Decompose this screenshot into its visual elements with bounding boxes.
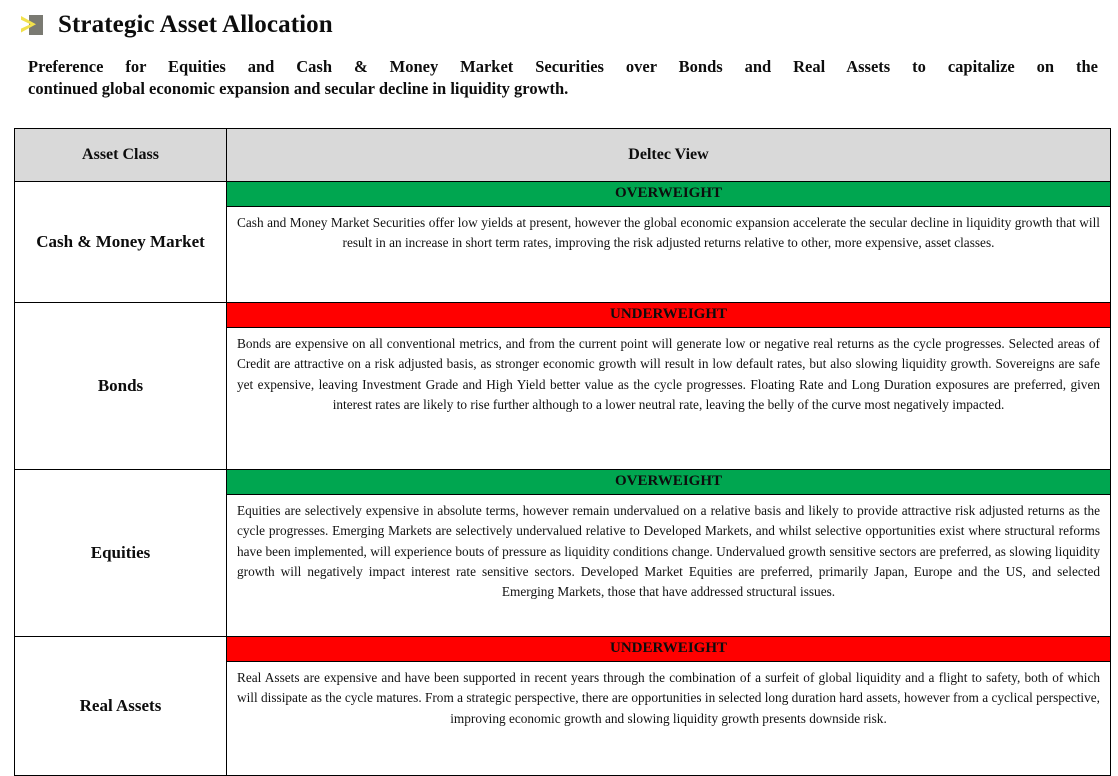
subtitle-statement: Preference for Equities and Cash & Money… [28,56,1098,100]
view-paragraph: Equities are selectively expensive in ab… [237,501,1100,602]
asset-class-cash-money-market: Cash & Money Market [15,182,227,303]
status-badge-overweight: OVERWEIGHT [227,470,1110,495]
deltec-view-equities: OVERWEIGHT Equities are selectively expe… [227,470,1111,637]
view-paragraph: Cash and Money Market Securities offer l… [237,213,1100,253]
view-paragraph: Bonds are expensive on all conventional … [237,334,1100,415]
page-title: Strategic Asset Allocation [58,12,333,37]
deltec-view-bonds: UNDERWEIGHT Bonds are expensive on all c… [227,303,1111,470]
deltec-view-real-assets: UNDERWEIGHT Real Assets are expensive an… [227,637,1111,776]
table-row: Cash & Money Market OVERWEIGHT Cash and … [15,182,1111,303]
table-header-row: Asset Class Deltec View [15,129,1111,182]
status-badge-overweight: OVERWEIGHT [227,182,1110,207]
deltec-chevron-logo-icon [20,13,46,37]
view-body-text: Bonds are expensive on all conventional … [227,328,1110,423]
table-head: Asset Class Deltec View [15,129,1111,182]
column-header-asset-class: Asset Class [15,129,227,182]
table-body: Cash & Money Market OVERWEIGHT Cash and … [15,182,1111,776]
asset-class-real-assets: Real Assets [15,637,227,776]
view-body-text: Real Assets are expensive and have been … [227,662,1110,737]
asset-allocation-table: Asset Class Deltec View Cash & Money Mar… [14,128,1111,776]
status-badge-underweight: UNDERWEIGHT [227,303,1110,328]
asset-class-equities: Equities [15,470,227,637]
logo-chevron-shape [20,14,42,36]
subtitle-line-2: continued global economic expansion and … [28,78,1098,100]
subtitle-line-1: Preference for Equities and Cash & Money… [28,56,1098,78]
view-paragraph: Real Assets are expensive and have been … [237,668,1100,729]
status-badge-underweight: UNDERWEIGHT [227,637,1110,662]
document-header: Strategic Asset Allocation [0,0,1118,40]
column-header-deltec-view: Deltec View [227,129,1111,182]
view-body-text: Equities are selectively expensive in ab… [227,495,1110,610]
table-row: Bonds UNDERWEIGHT Bonds are expensive on… [15,303,1111,470]
table-row: Equities OVERWEIGHT Equities are selecti… [15,470,1111,637]
deltec-view-cash-money-market: OVERWEIGHT Cash and Money Market Securit… [227,182,1111,303]
view-body-text: Cash and Money Market Securities offer l… [227,207,1110,261]
asset-class-bonds: Bonds [15,303,227,470]
table-row: Real Assets UNDERWEIGHT Real Assets are … [15,637,1111,776]
